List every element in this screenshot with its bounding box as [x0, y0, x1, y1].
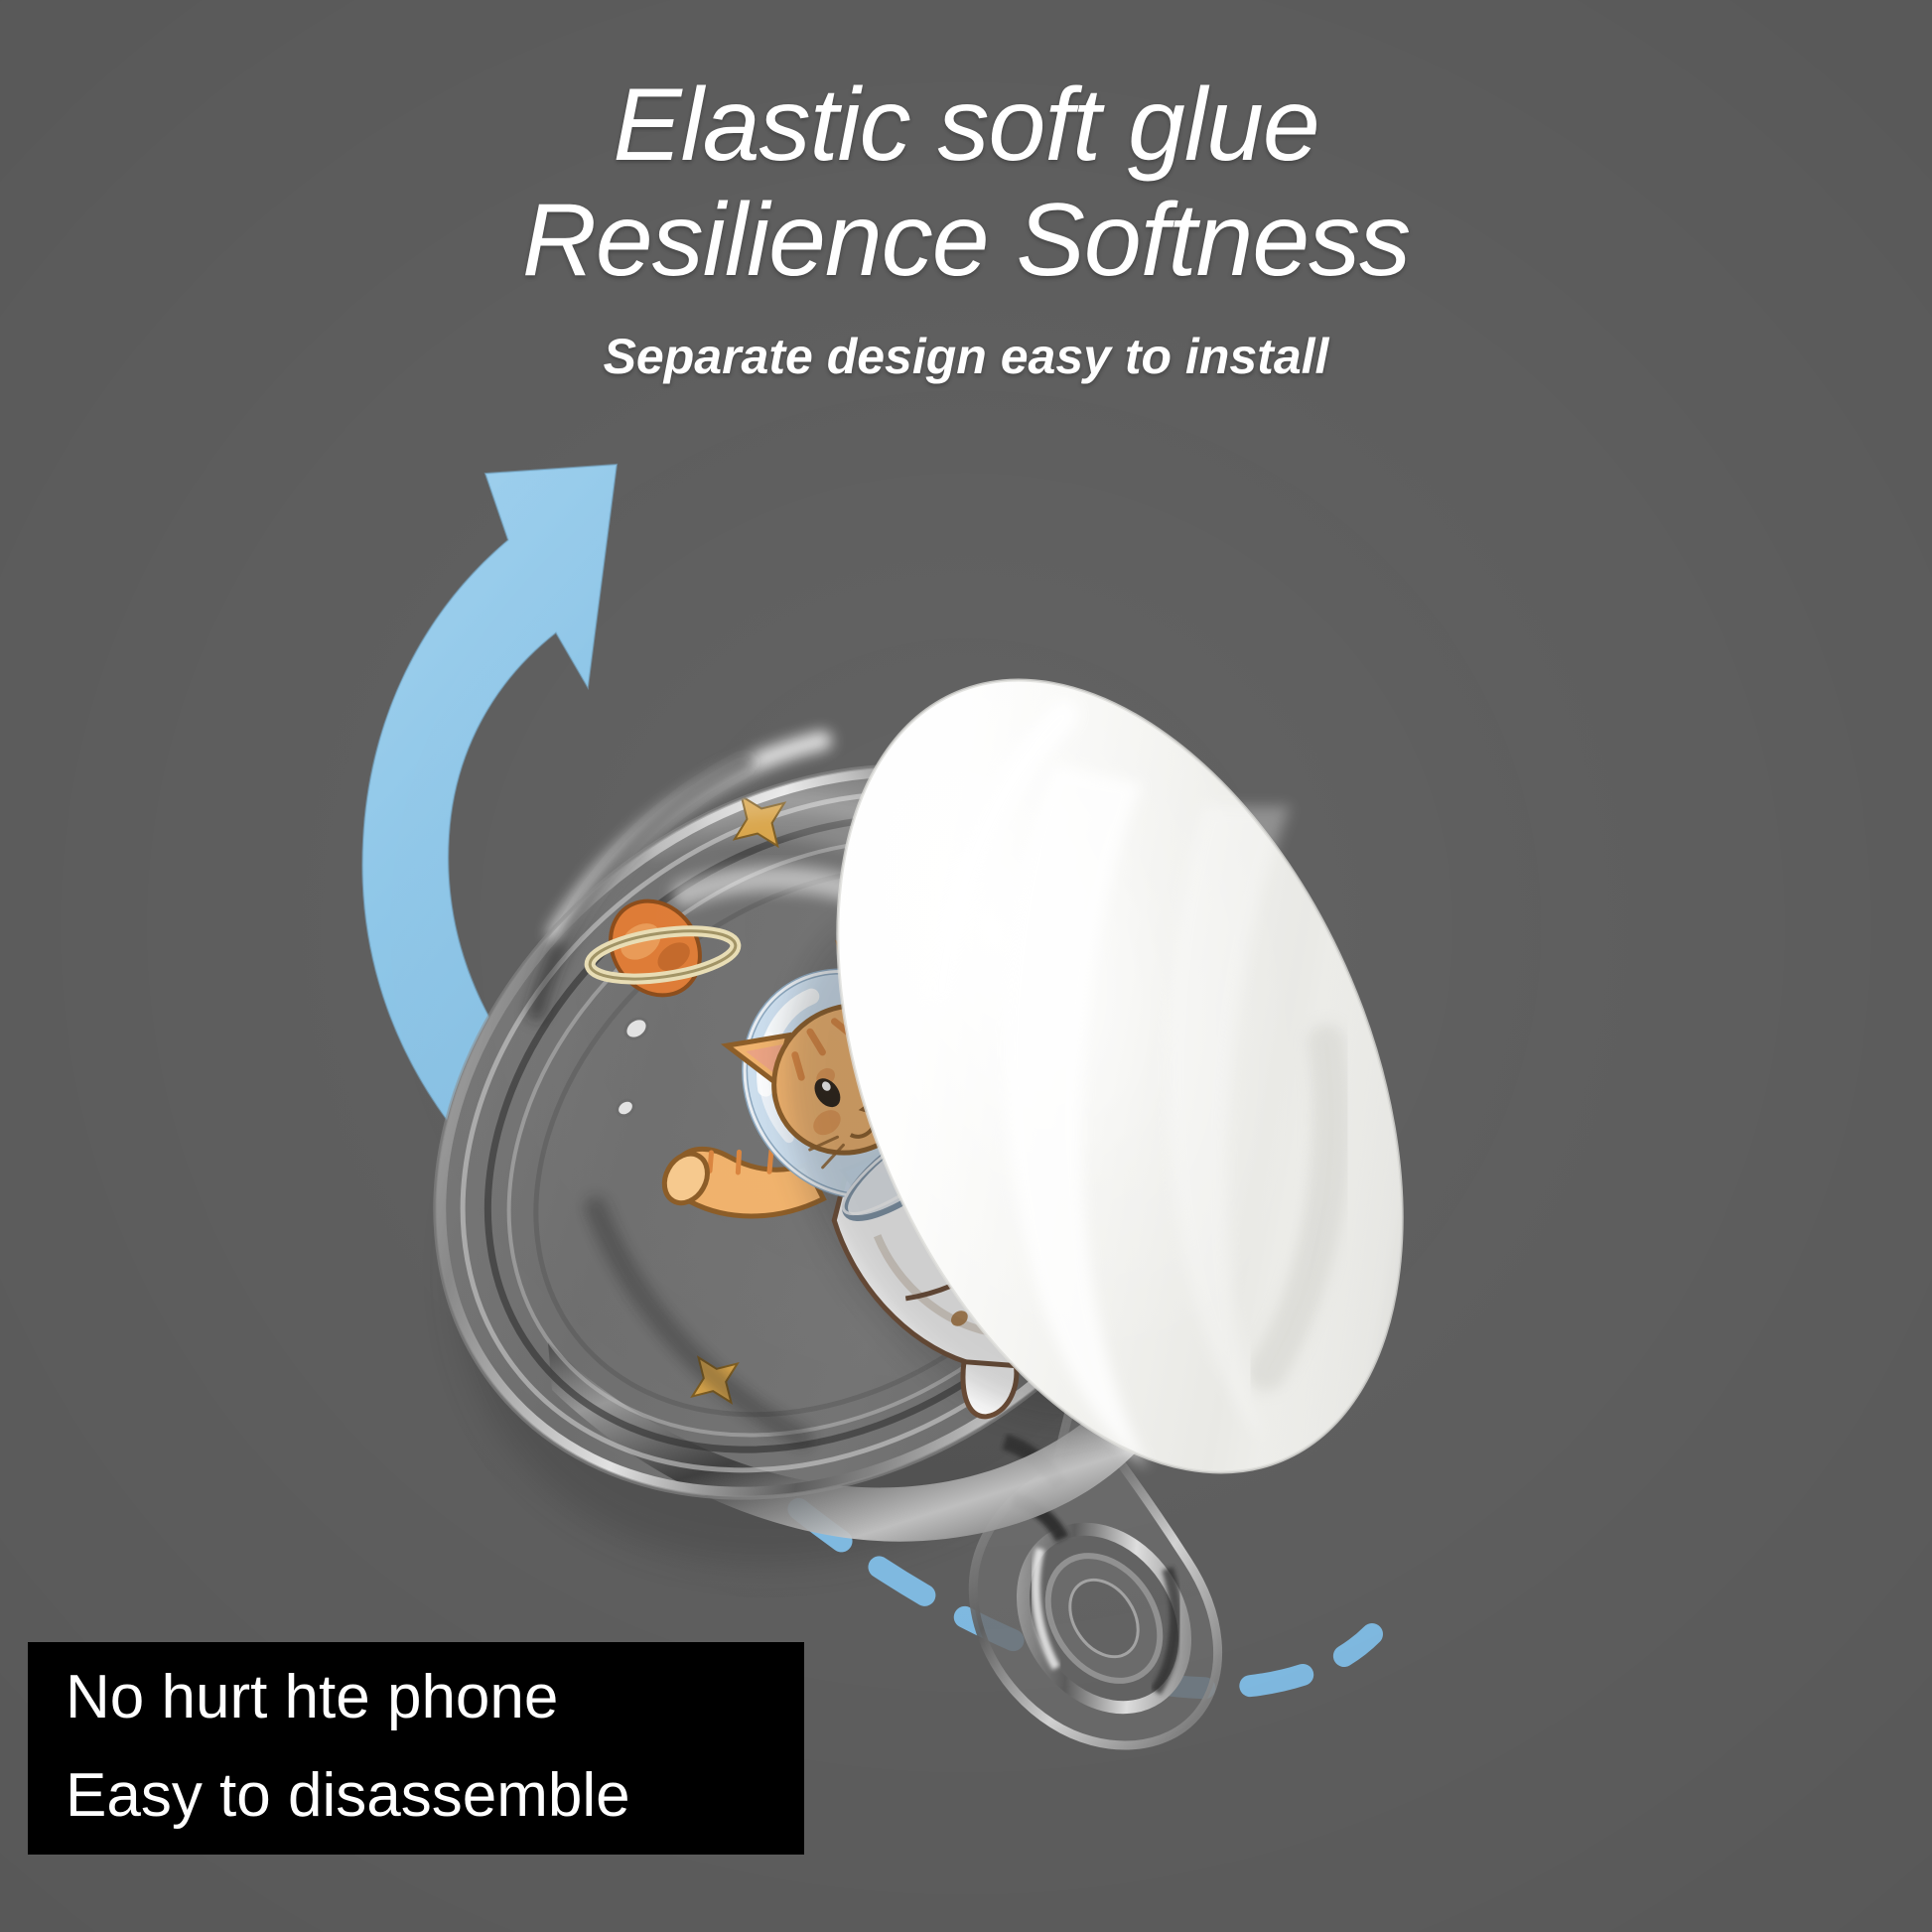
subtitle: Separate design easy to install [0, 328, 1932, 385]
caption-line-2: Easy to disassemble [66, 1746, 804, 1845]
feature-caption-box: No hurt hte phone Easy to disassemble [28, 1642, 804, 1855]
product-feature-image: Elastic soft glue Resilience Softness Se… [0, 0, 1932, 1932]
caption-line-1: No hurt hte phone [66, 1648, 804, 1746]
